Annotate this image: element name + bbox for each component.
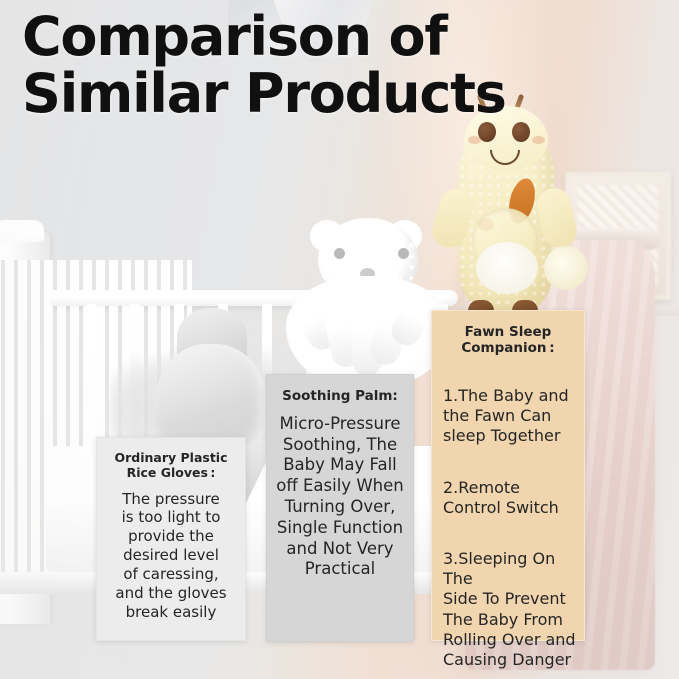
fawn-eye — [512, 122, 530, 142]
comparison-panel-ordinary-gloves: Ordinary Plastic Rice Gloves : The press… — [96, 437, 246, 641]
bear-eye — [334, 248, 345, 259]
panel-feature-item: 2.Remote Control Switch — [443, 478, 577, 518]
fawn-plush — [428, 96, 608, 326]
panel-body-soothing-palm: Micro-Pressure Soothing, The Baby May Fa… — [273, 414, 407, 580]
panel-title-ordinary-gloves: Ordinary Plastic Rice Gloves : — [106, 451, 236, 481]
fawn-blush — [468, 136, 481, 144]
panel-title-fawn-companion: Fawn Sleep Companion : — [439, 325, 577, 357]
panel-feature-item: 3.Sleeping On The Side To Prevent The Ba… — [443, 549, 577, 670]
panel-body-fawn-companion: 1.The Baby and the Fawn Can sleep Togeth… — [439, 366, 577, 679]
product-comparison-infographic: Comparison of Similar Products Ordinary … — [0, 0, 679, 679]
fawn-blush — [532, 136, 545, 144]
bear-eye — [398, 248, 409, 259]
fawn-tail — [544, 246, 588, 290]
page-title: Comparison of Similar Products — [22, 8, 662, 122]
comparison-panel-soothing-palm: Soothing Palm: Micro-Pressure Soothing, … — [266, 374, 414, 642]
panel-feature-item: 1.The Baby and the Fawn Can sleep Togeth… — [443, 386, 577, 446]
fawn-belly — [476, 242, 538, 294]
panel-title-soothing-palm: Soothing Palm: — [273, 389, 407, 405]
panel-body-ordinary-gloves: The pressure is too light to provide the… — [106, 490, 236, 622]
comparison-panel-fawn-companion: Fawn Sleep Companion : 1.The Baby and th… — [431, 310, 585, 641]
